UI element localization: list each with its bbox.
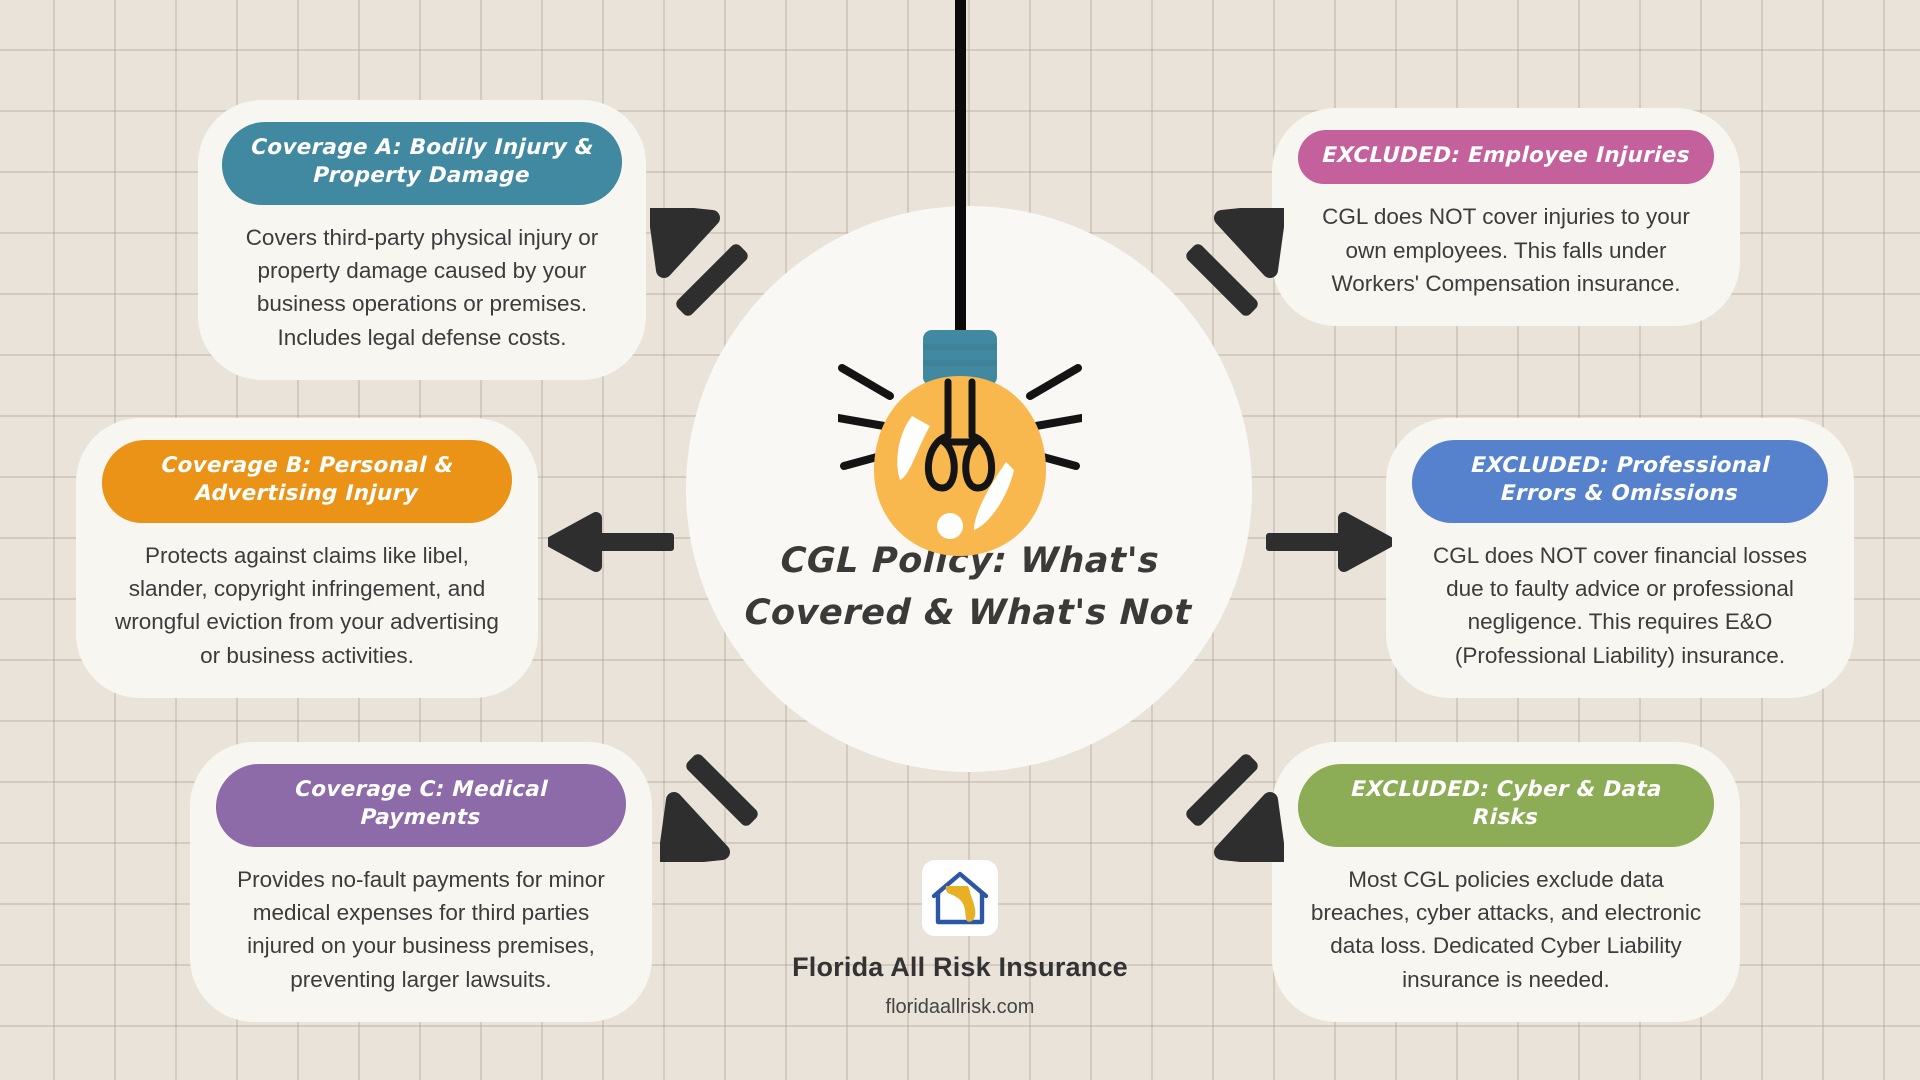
card-excluded-professional-errors[interactable]: EXCLUDED: Professional Errors & Omission…: [1386, 418, 1854, 698]
badge-coverage-a: Coverage A: Bodily Injury & Property Dam…: [221, 122, 624, 205]
lightbulb-icon: [838, 330, 1082, 565]
brand-name: Florida All Risk Insurance: [0, 952, 1920, 983]
brand-url: floridaallrisk.com: [0, 996, 1920, 1019]
body-coverage-a: Covers third-party physical injury or pr…: [224, 221, 620, 354]
arrow-left-icon: [548, 512, 674, 572]
body-excluded-employee-injuries: CGL does NOT cover injuries to your own …: [1298, 200, 1714, 300]
bulb-cord: [955, 0, 966, 362]
card-excluded-employee-injuries[interactable]: EXCLUDED: Employee Injuries CGL does NOT…: [1272, 108, 1740, 326]
house-florida-logo-icon: [922, 860, 998, 936]
badge-coverage-b: Coverage B: Personal & Advertising Injur…: [101, 440, 514, 523]
badge-coverage-c: Coverage C: Medical Payments: [215, 764, 628, 847]
badge-excluded-professional-errors: EXCLUDED: Professional Errors & Omission…: [1411, 440, 1830, 523]
brand-footer: Florida All Risk Insurance floridaallris…: [0, 860, 1920, 1019]
arrow-down-right-icon: [1164, 752, 1284, 862]
card-coverage-b[interactable]: Coverage B: Personal & Advertising Injur…: [76, 418, 538, 698]
page-title-line-2: Covered & What's Not: [684, 588, 1252, 640]
body-excluded-professional-errors: CGL does NOT cover financial losses due …: [1412, 539, 1828, 672]
arrow-up-left-icon: [650, 208, 770, 318]
badge-excluded-cyber-data-risks: EXCLUDED: Cyber & Data Risks: [1297, 764, 1716, 847]
badge-excluded-employee-injuries: EXCLUDED: Employee Injuries: [1297, 130, 1715, 184]
arrow-down-left-icon: [660, 752, 780, 862]
body-coverage-b: Protects against claims like libel, slan…: [102, 539, 512, 672]
arrow-right-icon: [1266, 512, 1392, 572]
card-coverage-a[interactable]: Coverage A: Bodily Injury & Property Dam…: [198, 100, 646, 380]
arrow-up-right-icon: [1164, 208, 1284, 318]
